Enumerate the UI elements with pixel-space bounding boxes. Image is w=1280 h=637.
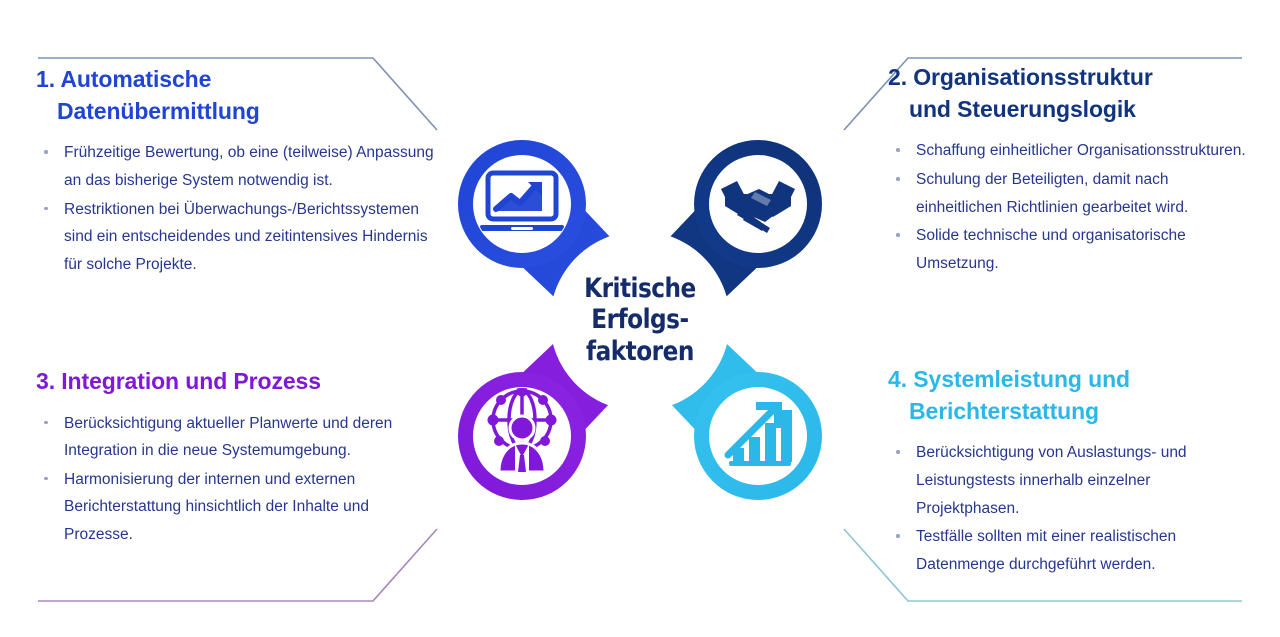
bullet-text: Schulung der Beteiligten, damit nach ein…	[916, 171, 1188, 216]
bullet-dot-icon	[44, 150, 48, 154]
bullet-dot-icon	[896, 450, 900, 454]
bullet-text: Restriktionen bei Überwachungs-/Berichts…	[64, 201, 428, 273]
list-item: Berücksichtigung aktueller Planwerte und…	[36, 410, 436, 465]
list-item: Schulung der Beteiligten, damit nach ein…	[888, 166, 1258, 221]
bullet-dot-icon	[896, 177, 900, 181]
quadrant-2-heading: 2. Organisationsstruktur und Steuerungsl…	[888, 62, 1258, 125]
list-item: Frühzeitige Bewertung, ob eine (teilweis…	[36, 139, 436, 194]
quadrant-2-heading-line-2: und Steuerungslogik	[888, 94, 1136, 126]
bullet-text: Solide technische und organisatorische U…	[916, 227, 1186, 272]
quadrant-panel-3: 3. Integration und Prozess Berücksichtig…	[36, 366, 436, 550]
quadrant-panel-1: 1. Automatische Datenübermittlung Frühze…	[36, 64, 436, 279]
bullet-dot-icon	[896, 534, 900, 538]
quadrant-panel-4: 4. Systemleistung und Berichterstattung …	[888, 364, 1258, 579]
bullet-text: Frühzeitige Bewertung, ob eine (teilweis…	[64, 144, 434, 189]
quadrant-4-bullet-list: Berücksichtigung von Auslastungs- und Le…	[888, 439, 1258, 578]
quadrant-1-heading: 1. Automatische Datenübermittlung	[36, 64, 436, 127]
quadrant-1-heading-line-2: Datenübermittlung	[36, 96, 260, 128]
slide-canvas: Kritische Erfolgs- faktoren 1. Automatis…	[0, 0, 1280, 637]
quadrant-3-heading-line-1: 3. Integration und Prozess	[36, 368, 321, 394]
quadrant-1-bullet-list: Frühzeitige Bewertung, ob eine (teilweis…	[36, 139, 436, 278]
bullet-text: Testfälle sollten mit einer realistische…	[916, 528, 1176, 573]
quadrant-panel-2: 2. Organisationsstruktur und Steuerungsl…	[888, 62, 1258, 278]
quadrant-4-heading: 4. Systemleistung und Berichterstattung	[888, 364, 1258, 427]
quadrant-3-heading: 3. Integration und Prozess	[36, 366, 436, 398]
quadrant-4-heading-line-2: Berichterstattung	[888, 396, 1099, 428]
quadrant-2-heading-line-1: 2. Organisationsstruktur	[888, 64, 1153, 90]
bullet-dot-icon	[896, 148, 900, 152]
center-circle	[550, 231, 730, 411]
list-item: Restriktionen bei Überwachungs-/Berichts…	[36, 196, 436, 279]
list-item: Solide technische und organisatorische U…	[888, 222, 1258, 277]
list-item: Testfälle sollten mit einer realistische…	[888, 523, 1258, 578]
bullet-text: Berücksichtigung von Auslastungs- und Le…	[916, 444, 1187, 516]
quadrant-3-bullet-list: Berücksichtigung aktueller Planwerte und…	[36, 410, 436, 549]
bullet-dot-icon	[896, 233, 900, 237]
list-item: Berücksichtigung von Auslastungs- und Le…	[888, 439, 1258, 522]
quadrant-1-heading-line-1: 1. Automatische	[36, 66, 211, 92]
list-item: Schaffung einheitlicher Organisationsstr…	[888, 137, 1258, 165]
bullet-text: Harmonisierung der internen und externen…	[64, 471, 369, 543]
bullet-text: Berücksichtigung aktueller Planwerte und…	[64, 415, 392, 460]
quadrant-4-heading-line-1: 4. Systemleistung und	[888, 366, 1130, 392]
bullet-dot-icon	[44, 421, 48, 425]
bullet-text: Schaffung einheitlicher Organisationsstr…	[916, 142, 1246, 159]
bullet-dot-icon	[44, 207, 48, 211]
list-item: Harmonisierung der internen und externen…	[36, 466, 436, 549]
central-diagram: Kritische Erfolgs- faktoren	[425, 110, 855, 530]
bullet-dot-icon	[44, 477, 48, 481]
quadrant-2-bullet-list: Schaffung einheitlicher Organisationsstr…	[888, 137, 1258, 277]
icon-bubble-bottom-right	[709, 387, 807, 485]
